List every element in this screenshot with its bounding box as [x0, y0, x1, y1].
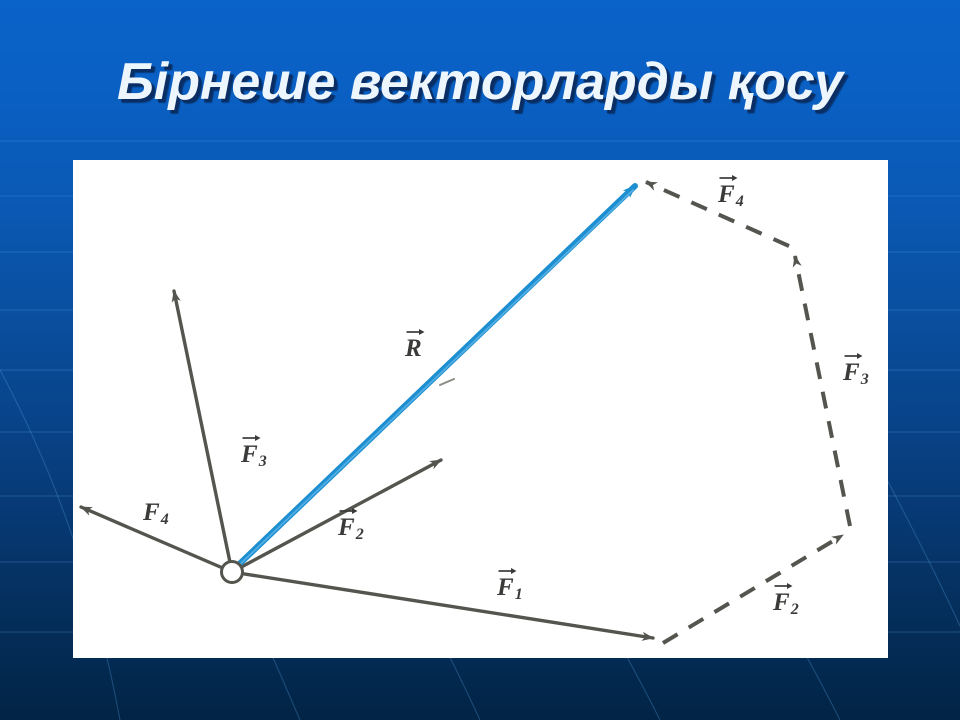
label-f2p-subscript: 2: [791, 601, 799, 618]
label-f1-subscript: 1: [515, 586, 523, 603]
label-f3-letter: F: [241, 441, 258, 468]
label-vector-f2-polygon: F2: [773, 590, 799, 618]
label-vector-f4-polygon: F4: [718, 182, 744, 210]
label-f2-letter: F: [338, 514, 355, 541]
overarrow-icon: [406, 327, 425, 335]
label-f2-subscript: 2: [356, 526, 364, 543]
slide-canvas: Бірнеше векторларды қосу: [0, 0, 960, 720]
vector-f2-polygon-leg: [663, 535, 843, 643]
label-vector-f2-fan: F2: [338, 515, 364, 543]
vector-f3-from-origin: [174, 291, 232, 572]
label-vector-f3-fan: F3: [241, 442, 267, 470]
label-vector-f3-polygon: F3: [843, 360, 869, 388]
overarrow-icon: [774, 581, 793, 589]
label-f1-letter: F: [497, 574, 514, 601]
origin-node: [222, 562, 243, 583]
figure-panel: R F3 F4 F2 F1: [73, 160, 888, 658]
vector-resultant-r-highlight: [235, 190, 633, 569]
label-vector-f1: F1: [497, 575, 523, 603]
vector-f3-polygon-leg: [795, 256, 850, 526]
label-f4-letter: F: [143, 499, 160, 526]
label-f3p-letter: F: [843, 359, 860, 386]
vector-f2-from-origin: [232, 460, 441, 572]
label-f3p-subscript: 3: [861, 371, 869, 388]
overarrow-icon: [719, 173, 738, 181]
page-title: Бірнеше векторларды қосу: [0, 52, 960, 112]
label-f3-subscript: 3: [259, 453, 267, 470]
label-f2p-letter: F: [773, 589, 790, 616]
label-f4p-letter: F: [718, 181, 735, 208]
label-f4-subscript: 4: [161, 511, 169, 528]
label-f4p-subscript: 4: [736, 193, 744, 210]
stray-tick-mark: [440, 379, 454, 385]
label-r-letter: R: [405, 335, 422, 362]
label-vector-f4-fan: F4: [143, 500, 169, 528]
overarrow-icon: [242, 433, 261, 441]
overarrow-icon: [844, 351, 863, 359]
overarrow-icon: [339, 506, 358, 514]
vector-addition-figure: [73, 160, 888, 658]
overarrow-icon: [498, 566, 517, 574]
vector-f1-from-origin: [232, 572, 653, 638]
label-vector-r: R: [405, 336, 422, 361]
